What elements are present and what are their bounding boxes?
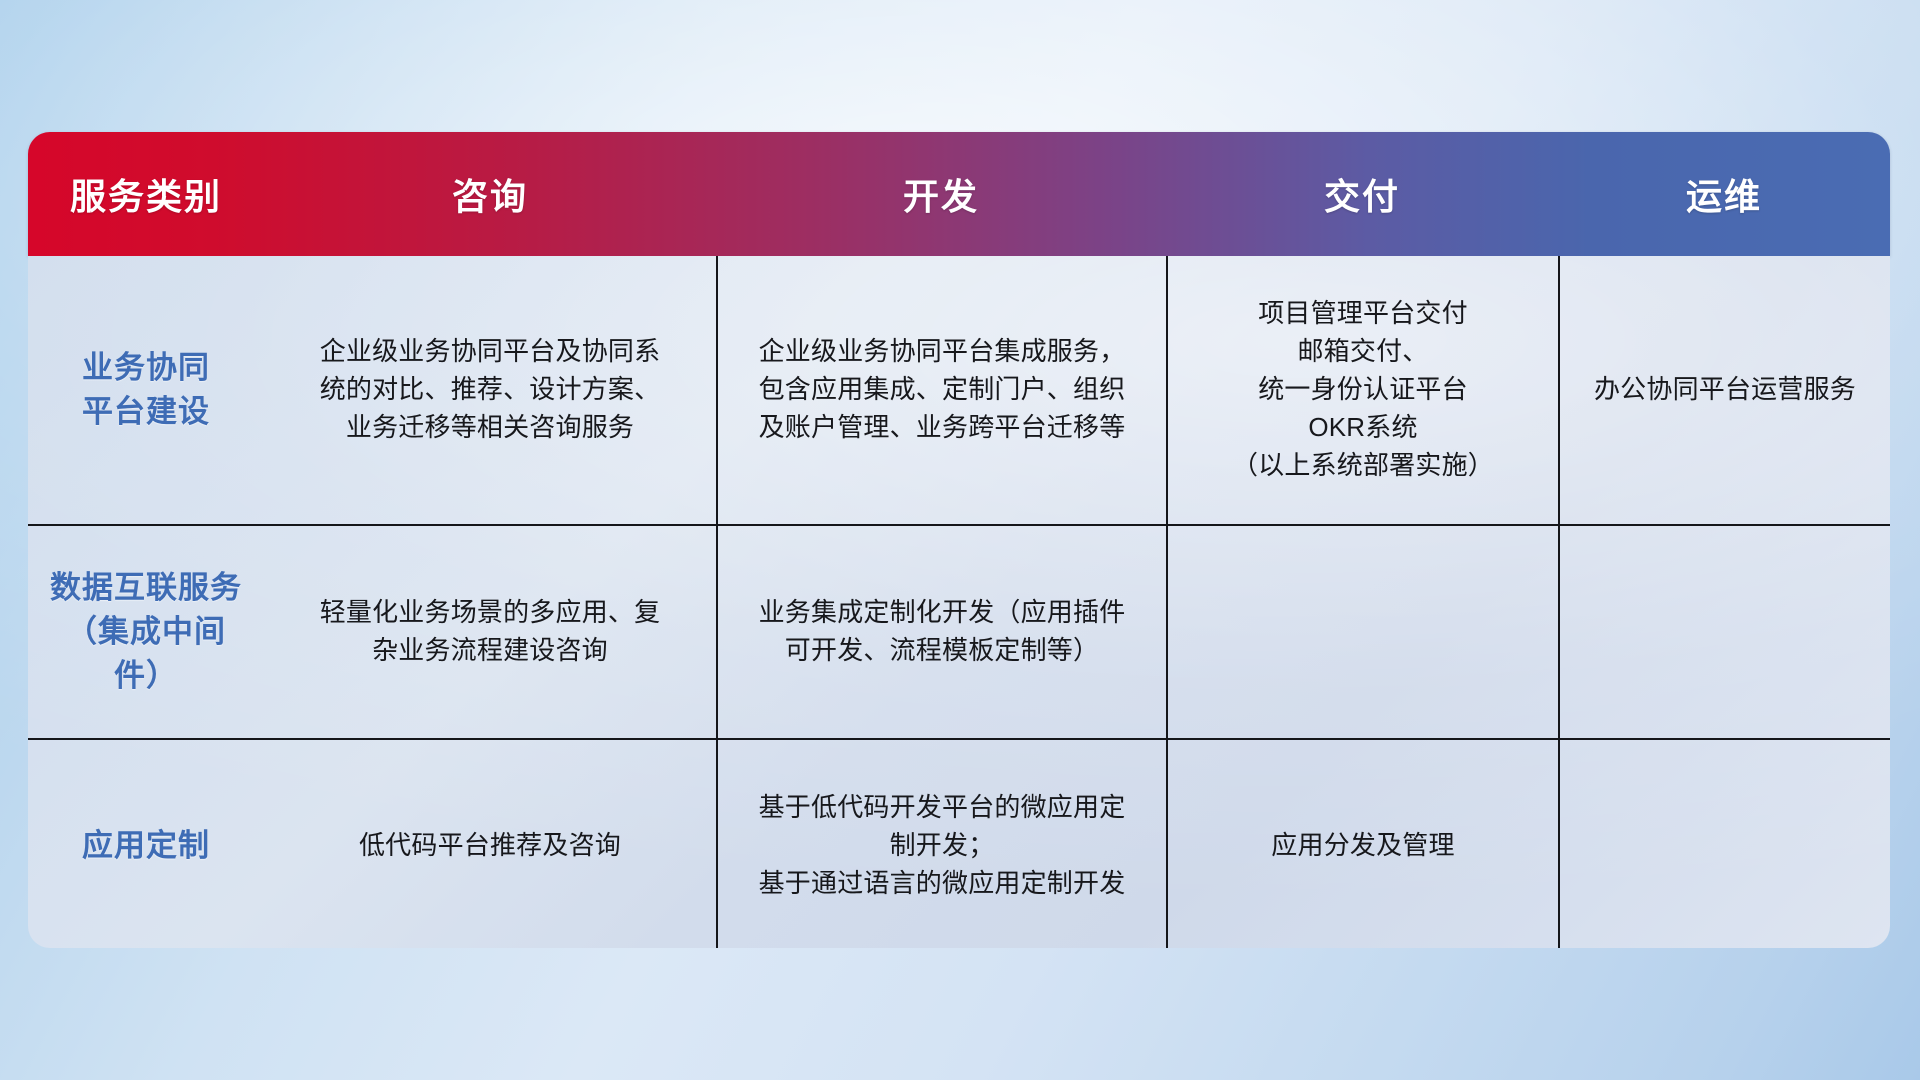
row-category-cell: 业务协同 平台建设: [28, 256, 264, 524]
cell-text: 企业级业务协同平台及协同系 统的对比、推荐、设计方案、 业务迁移等相关咨询服务: [320, 333, 661, 447]
row-category-cell: 数据互联服务 （集成中间件）: [28, 526, 264, 738]
table-row: 业务协同 平台建设 企业级业务协同平台及协同系 统的对比、推荐、设计方案、 业务…: [28, 256, 1890, 526]
cell-development: 业务集成定制化开发（应用插件 可开发、流程模板定制等）: [716, 526, 1166, 738]
column-header-label: 咨询: [452, 168, 528, 220]
column-header-label: 开发: [903, 168, 979, 220]
cell-delivery: 项目管理平台交付 邮箱交付、 统一身份认证平台 OKR系统 （以上系统部署实施）: [1166, 256, 1558, 524]
cell-consulting: 企业级业务协同平台及协同系 统的对比、推荐、设计方案、 业务迁移等相关咨询服务: [264, 256, 716, 524]
service-category-table: 服务类别 咨询 开发 交付 运维 业务协同 平台建设: [28, 132, 1890, 948]
table-header-row: 服务类别 咨询 开发 交付 运维: [28, 132, 1890, 256]
cell-text: 低代码平台推荐及咨询: [359, 827, 621, 865]
cell-development: 企业级业务协同平台集成服务， 包含应用集成、定制门户、组织 及账户管理、业务跨平…: [716, 256, 1166, 524]
cell-text: 办公协同平台运营服务: [1594, 371, 1856, 409]
cell-text: 企业级业务协同平台集成服务， 包含应用集成、定制门户、组织 及账户管理、业务跨平…: [759, 333, 1126, 447]
cell-text: 项目管理平台交付 邮箱交付、 统一身份认证平台 OKR系统 （以上系统部署实施）: [1232, 295, 1494, 485]
column-header-label: 运维: [1686, 168, 1762, 220]
slide-canvas: 服务类别 咨询 开发 交付 运维 业务协同 平台建设: [0, 0, 1920, 1080]
cell-development: 基于低代码开发平台的微应用定 制开发； 基于通过语言的微应用定制开发: [716, 740, 1166, 948]
cell-delivery: [1166, 526, 1558, 738]
column-header-label: 交付: [1324, 168, 1400, 220]
cell-text: 应用分发及管理: [1271, 827, 1454, 865]
cell-text: 基于低代码开发平台的微应用定 制开发； 基于通过语言的微应用定制开发: [759, 789, 1126, 903]
cell-text: 业务集成定制化开发（应用插件 可开发、流程模板定制等）: [759, 594, 1126, 670]
row-category-cell: 应用定制: [28, 740, 264, 948]
cell-consulting: 低代码平台推荐及咨询: [264, 740, 716, 948]
table-row: 应用定制 低代码平台推荐及咨询 基于低代码开发平台的微应用定 制开发； 基于通过…: [28, 740, 1890, 948]
column-header-development: 开发: [716, 132, 1166, 256]
row-category-label: 应用定制: [82, 824, 210, 868]
column-header-operations: 运维: [1558, 132, 1890, 256]
table-body: 业务协同 平台建设 企业级业务协同平台及协同系 统的对比、推荐、设计方案、 业务…: [28, 256, 1890, 948]
cell-operations: 办公协同平台运营服务: [1558, 256, 1890, 524]
cell-delivery: 应用分发及管理: [1166, 740, 1558, 948]
column-header-delivery: 交付: [1166, 132, 1558, 256]
cell-consulting: 轻量化业务场景的多应用、复 杂业务流程建设咨询: [264, 526, 716, 738]
row-category-label: 业务协同 平台建设: [82, 346, 210, 434]
cell-operations: [1558, 526, 1890, 738]
cell-operations: [1558, 740, 1890, 948]
row-category-label: 数据互联服务 （集成中间件）: [42, 566, 250, 698]
column-header-consulting: 咨询: [264, 132, 716, 256]
column-header-service-category: 服务类别: [28, 132, 264, 256]
table-row: 数据互联服务 （集成中间件） 轻量化业务场景的多应用、复 杂业务流程建设咨询 业…: [28, 526, 1890, 740]
column-header-label: 服务类别: [70, 168, 222, 220]
cell-text: 轻量化业务场景的多应用、复 杂业务流程建设咨询: [320, 594, 661, 670]
